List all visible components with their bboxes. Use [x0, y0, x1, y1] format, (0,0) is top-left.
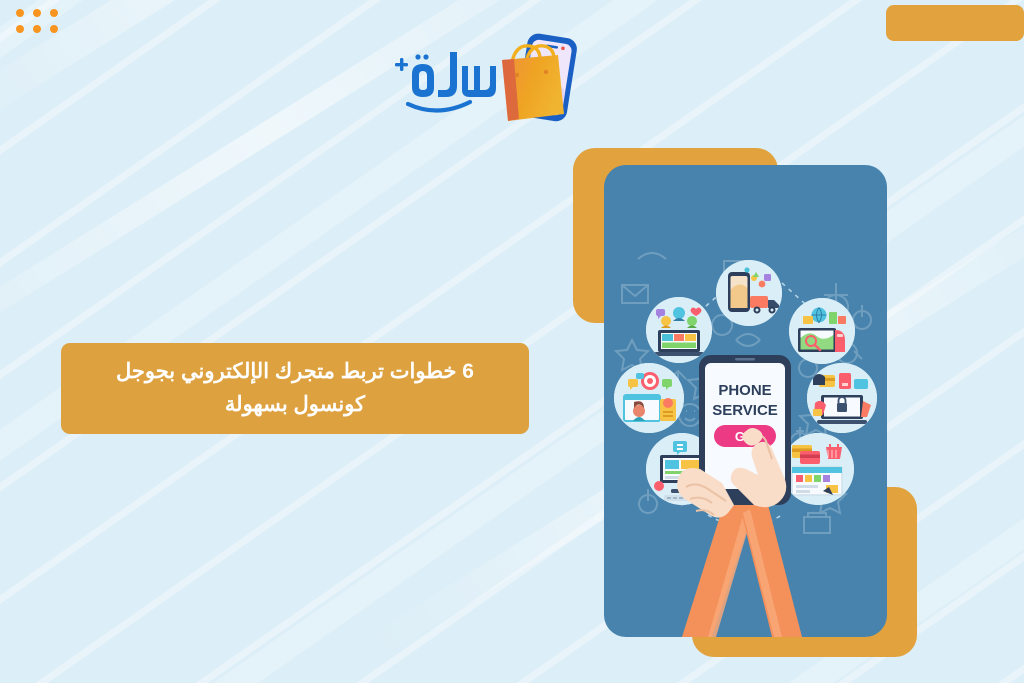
grid-dot: [33, 9, 41, 17]
illustration-stage: PHONE SERVICE GO: [604, 165, 887, 637]
blue-illustration-card: PHONE SERVICE GO: [604, 165, 887, 637]
grid-dot: [16, 9, 24, 17]
phone-screen-line-2: SERVICE: [712, 402, 778, 419]
salla-wordmark: [378, 44, 496, 114]
shopping-bag-phone-icon: [486, 28, 578, 128]
grid-dot: [16, 25, 24, 33]
dot-grid-decoration: [16, 9, 59, 34]
page-title-badge: 6 خطوات تربط متجرك الإلكتروني بجوجل كونس…: [61, 343, 529, 434]
salla-logo[interactable]: [378, 28, 578, 128]
node-mobile-delivery[interactable]: [716, 260, 782, 326]
poster-canvas: 6 خطوات تربط متجرك الإلكتروني بجوجل كونس…: [0, 0, 1024, 683]
mobile-delivery-icon: [716, 260, 782, 326]
phone-screen-line-1: PHONE: [718, 382, 771, 399]
grid-dot: [50, 9, 58, 17]
grid-dot: [50, 25, 58, 33]
page-title: 6 خطوات تربط متجرك الإلكتروني بجوجل كونس…: [83, 356, 507, 421]
hands-holding-phone: PHONE SERVICE GO: [604, 337, 887, 637]
orange-tab-decoration: [886, 5, 1024, 41]
grid-dot: [33, 25, 41, 33]
